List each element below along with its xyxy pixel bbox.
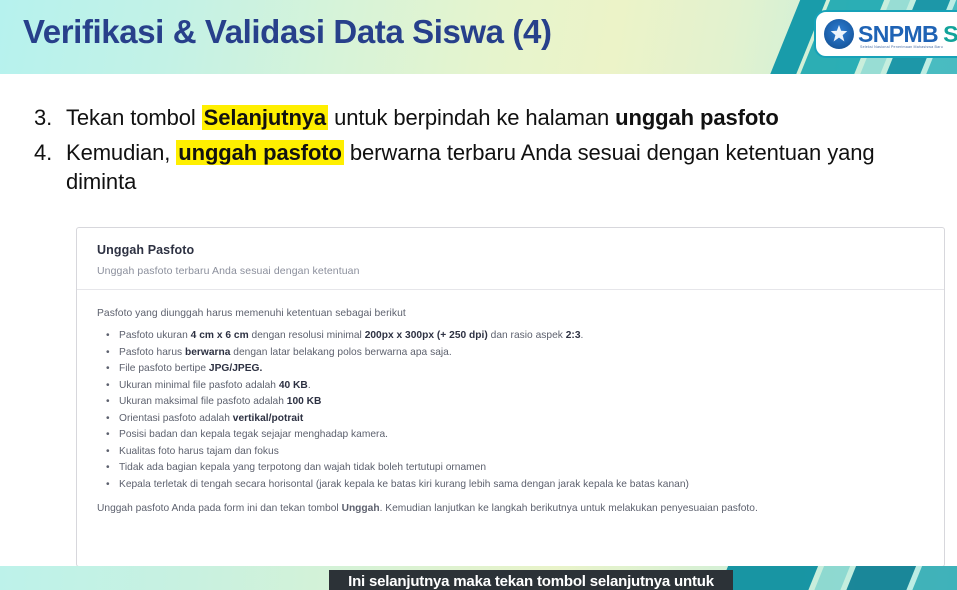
card-body: Pasfoto yang diunggah harus memenuhi ket… <box>77 290 944 567</box>
requirement-item: File pasfoto bertipe JPG/JPEG. <box>119 361 924 378</box>
card-subtitle: Unggah pasfoto terbaru Anda sesuai denga… <box>97 265 944 277</box>
list-item: 4. Kemudian, unggah pasfoto berwarna ter… <box>34 138 949 196</box>
requirement-item: Orientasi pasfoto adalah vertikal/potrai… <box>119 411 924 428</box>
requirements-list: Pasfoto ukuran 4 cm x 6 cm dengan resolu… <box>97 328 924 493</box>
card-header: Unggah Pasfoto Unggah pasfoto terbaru An… <box>77 228 944 290</box>
step-text: Tekan tombol Selanjutnya untuk berpindah… <box>66 103 949 132</box>
tut-wuri-handayani-icon <box>824 19 854 49</box>
snpmb-wordmark: SNPMB <box>858 23 938 46</box>
snbt-wordmark: S <box>943 23 957 46</box>
requirement-item: Pasfoto ukuran 4 cm x 6 cm dengan resolu… <box>119 328 924 345</box>
requirement-item: Posisi badan dan kepala tegak sejajar me… <box>119 427 924 444</box>
step-text: Kemudian, unggah pasfoto berwarna terbar… <box>66 138 949 196</box>
video-caption-overlay: Ini selanjutnya maka tekan tombol selanj… <box>329 570 733 590</box>
requirement-item: Ukuran maksimal file pasfoto adalah 100 … <box>119 394 924 411</box>
step-number: 3. <box>34 103 66 132</box>
card-title: Unggah Pasfoto <box>97 243 944 257</box>
list-item: 3. Tekan tombol Selanjutnya untuk berpin… <box>34 103 949 132</box>
requirements-intro: Pasfoto yang diunggah harus memenuhi ket… <box>97 308 924 319</box>
instruction-list: 3. Tekan tombol Selanjutnya untuk berpin… <box>34 103 949 202</box>
page-title: Verifikasi & Validasi Data Siswa (4) <box>23 13 552 51</box>
header-underline <box>0 74 957 78</box>
requirement-item: Ukuran minimal file pasfoto adalah 40 KB… <box>119 378 924 395</box>
requirement-item: Pasfoto harus berwarna dengan latar bela… <box>119 345 924 362</box>
requirement-item: Tidak ada bagian kepala yang terpotong d… <box>119 460 924 477</box>
requirements-outro: Unggah pasfoto Anda pada form ini dan te… <box>97 503 924 514</box>
requirement-item: Kualitas foto harus tajam dan fokus <box>119 444 924 461</box>
unggah-pasfoto-card: Unggah Pasfoto Unggah pasfoto terbaru An… <box>76 227 945 567</box>
step-number: 4. <box>34 138 66 167</box>
snpmb-logo: SNPMB Seleksi Nasional Penerimaan Mahasi… <box>814 10 957 58</box>
requirement-item: Kepala terletak di tengah secara horison… <box>119 477 924 494</box>
snpmb-logo-subtext: Seleksi Nasional Penerimaan Mahasiswa Ba… <box>860 45 943 49</box>
page-header-banner: Verifikasi & Validasi Data Siswa (4) SNP… <box>0 0 957 78</box>
